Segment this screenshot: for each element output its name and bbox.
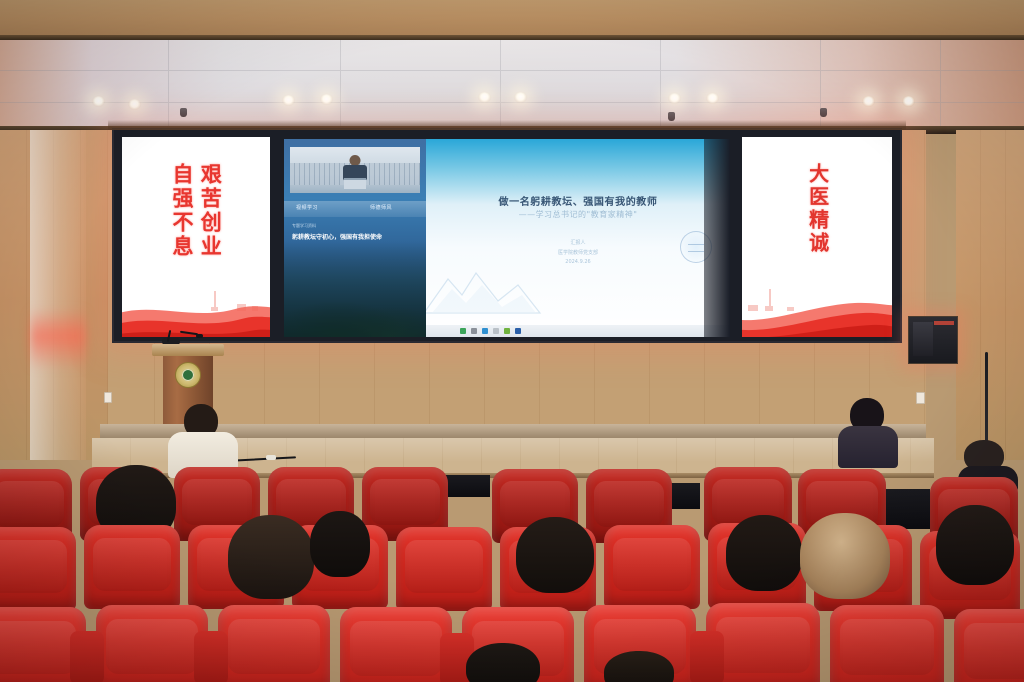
browser-icon[interactable] (482, 328, 488, 334)
seat-armrest (194, 631, 228, 682)
av-panel-indicator (934, 321, 954, 325)
slide-title: 做一名躬耕教坛、强国有我的教师 (426, 193, 730, 208)
right-side-wall (956, 130, 1024, 460)
slide-subtitle: ——学习总书记的"教育家精神" (426, 209, 730, 220)
row-shadow-gap (880, 489, 930, 529)
ceiling-downlight (92, 96, 105, 107)
chat-icon[interactable] (493, 328, 499, 334)
explorer-icon[interactable] (471, 328, 477, 334)
left-banner-column-1: 自强不息 (171, 163, 193, 279)
attendee-head (726, 515, 802, 591)
windows-taskbar[interactable] (426, 325, 730, 337)
ceiling-downlight (668, 93, 681, 104)
video-speaker-figure (342, 155, 368, 189)
left-wall-red-glow (30, 308, 86, 370)
attendee-head (516, 517, 594, 593)
start-icon[interactable] (460, 328, 466, 334)
tab-video-study[interactable]: 视频学习 (296, 204, 318, 211)
ceiling-downlight (282, 95, 295, 106)
ceiling-downlight (902, 96, 915, 107)
seat[interactable] (96, 605, 208, 682)
projection-right-gap (704, 139, 730, 337)
seat[interactable] (604, 525, 700, 609)
attendee-head (228, 515, 314, 599)
seat[interactable] (84, 525, 180, 609)
ceiling-wood-trim (0, 0, 1024, 40)
projection-left-pane[interactable]: 视频学习 师德师风 专题学习资料 躬耕教坛守初心，强国有我担使命 (284, 139, 426, 337)
left-wall-pillar (30, 130, 86, 460)
projection-display[interactable]: 视频学习 师德师风 专题学习资料 躬耕教坛守初心，强国有我担使命 做一名躬耕教坛… (284, 139, 730, 337)
right-banner-columns: 大医精诚 (742, 163, 892, 279)
av-panel-inner (913, 322, 933, 356)
attendee-head (936, 505, 1014, 585)
attendee-head (466, 643, 540, 682)
media-icon[interactable] (515, 328, 521, 334)
seat-armrest (690, 631, 724, 682)
left-pane-tabbar[interactable]: 视频学习 师德师风 (284, 201, 426, 217)
podium-top-surface (152, 344, 224, 356)
auditorium-scene: 自强不息 艰苦创业 (0, 0, 1024, 682)
left-side-wall (0, 130, 108, 460)
left-pane-mountain-backdrop (284, 241, 426, 337)
left-slogan-banner: 自强不息 艰苦创业 (122, 137, 270, 337)
led-video-wall[interactable]: 自强不息 艰苦创业 (112, 128, 902, 343)
ceiling-sprinkler-icon (180, 108, 187, 117)
audience-seating (0, 455, 1024, 682)
right-banner-wave-graphic (742, 291, 892, 337)
av-control-niche[interactable] (908, 316, 958, 364)
video-laptop-icon (344, 178, 366, 189)
seat[interactable] (954, 609, 1024, 682)
ceiling-downlight (128, 99, 141, 110)
left-pane-caption-main: 躬耕教坛守初心，强国有我担使命 (292, 232, 418, 241)
left-pane-text-block: 专题学习资料 躬耕教坛守初心，强国有我担使命 (292, 223, 418, 241)
ceiling-downlight (478, 92, 491, 103)
wall-outlet-left[interactable] (104, 392, 112, 403)
university-crest-icon (175, 362, 201, 388)
tab-teacher-ethics[interactable]: 师德师风 (370, 204, 392, 211)
ceiling-downlight (514, 92, 527, 103)
wall-outlet-right[interactable] (916, 392, 925, 404)
ceiling-downlight (320, 94, 333, 105)
microphone-head (196, 334, 203, 338)
ceiling-downlight (706, 93, 719, 104)
lecture-video-thumbnail[interactable] (290, 147, 420, 193)
seat[interactable] (830, 605, 944, 682)
right-slogan-banner: 大医精诚 (742, 137, 892, 337)
attendee-head (310, 511, 370, 577)
left-banner-columns: 自强不息 艰苦创业 (122, 163, 270, 279)
seat[interactable] (218, 605, 330, 682)
slide-ink-mountain-graphic (426, 263, 542, 315)
seat[interactable] (340, 607, 452, 682)
ceiling-grid (0, 40, 1024, 130)
mail-icon[interactable] (504, 328, 510, 334)
left-banner-column-2: 艰苦创业 (199, 163, 221, 279)
presentation-slide[interactable]: 做一名躬耕教坛、强国有我的教师 ——学习总书记的"教育家精神" 汇报人 医学院教… (426, 139, 730, 337)
ceiling-downlight (862, 96, 875, 107)
ceiling-sprinkler-icon (820, 108, 827, 117)
right-banner-column: 大医精诚 (806, 163, 827, 279)
seat-armrest (70, 631, 104, 682)
attendee-head (800, 513, 890, 599)
left-pane-caption-small: 专题学习资料 (292, 223, 418, 229)
seat[interactable] (396, 527, 492, 611)
seat[interactable] (0, 527, 76, 611)
